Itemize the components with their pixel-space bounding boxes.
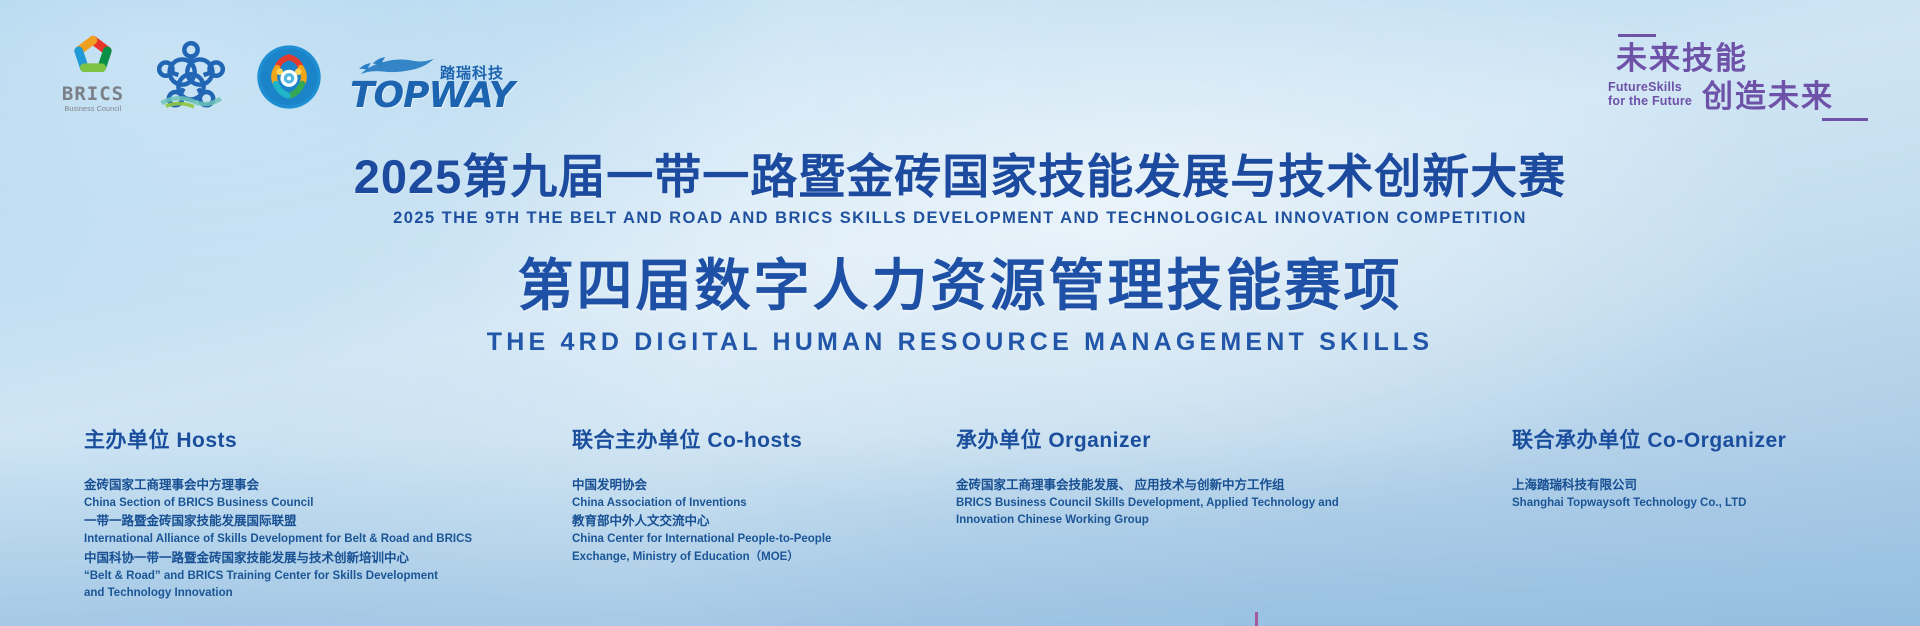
title-block: 2025第九届一带一路暨金砖国家技能发展与技术创新大赛 2025 THE 9TH… xyxy=(0,152,1920,357)
org-line: and Technology Innovation xyxy=(84,585,472,602)
bottom-edge-marker xyxy=(1255,612,1258,626)
column-heading: 联合承办单位 Co-Organizer xyxy=(1512,424,1786,454)
org-line: International Alliance of Skills Develop… xyxy=(84,531,472,548)
org-line: 教育部中外人文交流中心 xyxy=(572,512,831,531)
organizer-columns: 主办单位 Hosts 金砖国家工商理事会中方理事会 China Section … xyxy=(0,424,1920,614)
future-skills-lockup: 未来技能 FutureSkills for the Future 创造未来 xyxy=(1608,30,1868,121)
event-title-en: THE 4RD DIGITAL HUMAN RESOURCE MANAGEMEN… xyxy=(0,328,1920,357)
column-body: 金砖国家工商理事会中方理事会 China Section of BRICS Bu… xyxy=(84,476,472,603)
poster-banner: BRICS Business Council xyxy=(0,0,1920,626)
column-body: 上海踏瑞科技有限公司 Shanghai Topwaysoft Technolog… xyxy=(1512,476,1786,512)
org-line: China Association of Inventions xyxy=(572,495,831,512)
organizer-column-organizer: 承办单位 Organizer 金砖国家工商理事会技能发展、 应用技术与创新中方工… xyxy=(956,424,1339,530)
event-title-cn: 第四届数字人力资源管理技能赛项 xyxy=(0,256,1920,316)
org-line: BRICS Business Council Skills Developmen… xyxy=(956,495,1339,512)
belt-road-alliance-logo xyxy=(152,38,230,112)
brics-star-icon xyxy=(67,34,119,82)
org-line: 金砖国家工商理事会中方理事会 xyxy=(84,476,472,495)
future-skills-cn-line2: 创造未来 xyxy=(1702,81,1834,112)
org-line: Exchange, Ministry of Education（MOE） xyxy=(572,549,831,566)
future-skills-cn-line1: 未来技能 xyxy=(1616,43,1868,74)
competition-title-cn: 2025第九届一带一路暨金砖国家技能发展与技术创新大赛 xyxy=(0,152,1920,203)
organizer-column-coorganizer: 联合承办单位 Co-Organizer 上海踏瑞科技有限公司 Shanghai … xyxy=(1512,424,1786,512)
org-line: 中国科协一带一路暨金砖国家技能发展与技术创新培训中心 xyxy=(84,549,472,568)
organizer-column-hosts: 主办单位 Hosts 金砖国家工商理事会中方理事会 China Section … xyxy=(84,424,472,603)
column-heading: 主办单位 Hosts xyxy=(84,424,472,454)
org-line: 上海踏瑞科技有限公司 xyxy=(1512,476,1786,495)
org-line: 一带一路暨金砖国家技能发展国际联盟 xyxy=(84,512,472,531)
rule-bottom xyxy=(1822,118,1868,121)
topway-chinese-name: 踏瑞科技 xyxy=(440,62,504,83)
brics-subtitle: Business Council xyxy=(65,106,122,114)
org-line: Innovation Chinese Working Group xyxy=(956,512,1339,529)
column-heading: 承办单位 Organizer xyxy=(956,424,1339,454)
future-skills-en-line1: FutureSkills xyxy=(1608,80,1692,94)
future-skills-en-line2: for the Future xyxy=(1608,94,1692,108)
brics-wordmark: BRICS xyxy=(62,85,124,104)
column-heading: 联合主办单位 Co-hosts xyxy=(572,424,831,454)
topway-logo: TOPWAY 踏瑞科技 xyxy=(350,48,500,112)
org-line: China Center for International People-to… xyxy=(572,531,831,548)
future-skills-en: FutureSkills for the Future xyxy=(1608,80,1692,112)
org-line: 金砖国家工商理事会技能发展、 应用技术与创新中方工作组 xyxy=(956,476,1339,495)
column-body: 中国发明协会 China Association of Inventions 教… xyxy=(572,476,831,566)
org-line: Shanghai Topwaysoft Technology Co., LTD xyxy=(1512,495,1786,512)
rule-top xyxy=(1618,34,1656,37)
org-line: 中国发明协会 xyxy=(572,476,831,495)
brics-business-council-logo: BRICS Business Council xyxy=(60,34,126,114)
partner-logo-row: BRICS Business Council xyxy=(60,34,500,114)
competition-title-en: 2025 THE 9TH THE BELT AND ROAD AND BRICS… xyxy=(0,209,1920,228)
skills-emblem-logo xyxy=(256,44,322,110)
column-body: 金砖国家工商理事会技能发展、 应用技术与创新中方工作组 BRICS Busine… xyxy=(956,476,1339,530)
topway-wordmark: TOPWAY xyxy=(350,78,514,114)
organizer-column-cohosts: 联合主办单位 Co-hosts 中国发明协会 China Association… xyxy=(572,424,831,566)
org-line: “Belt & Road” and BRICS Training Center … xyxy=(84,568,472,585)
org-line: China Section of BRICS Business Council xyxy=(84,495,472,512)
